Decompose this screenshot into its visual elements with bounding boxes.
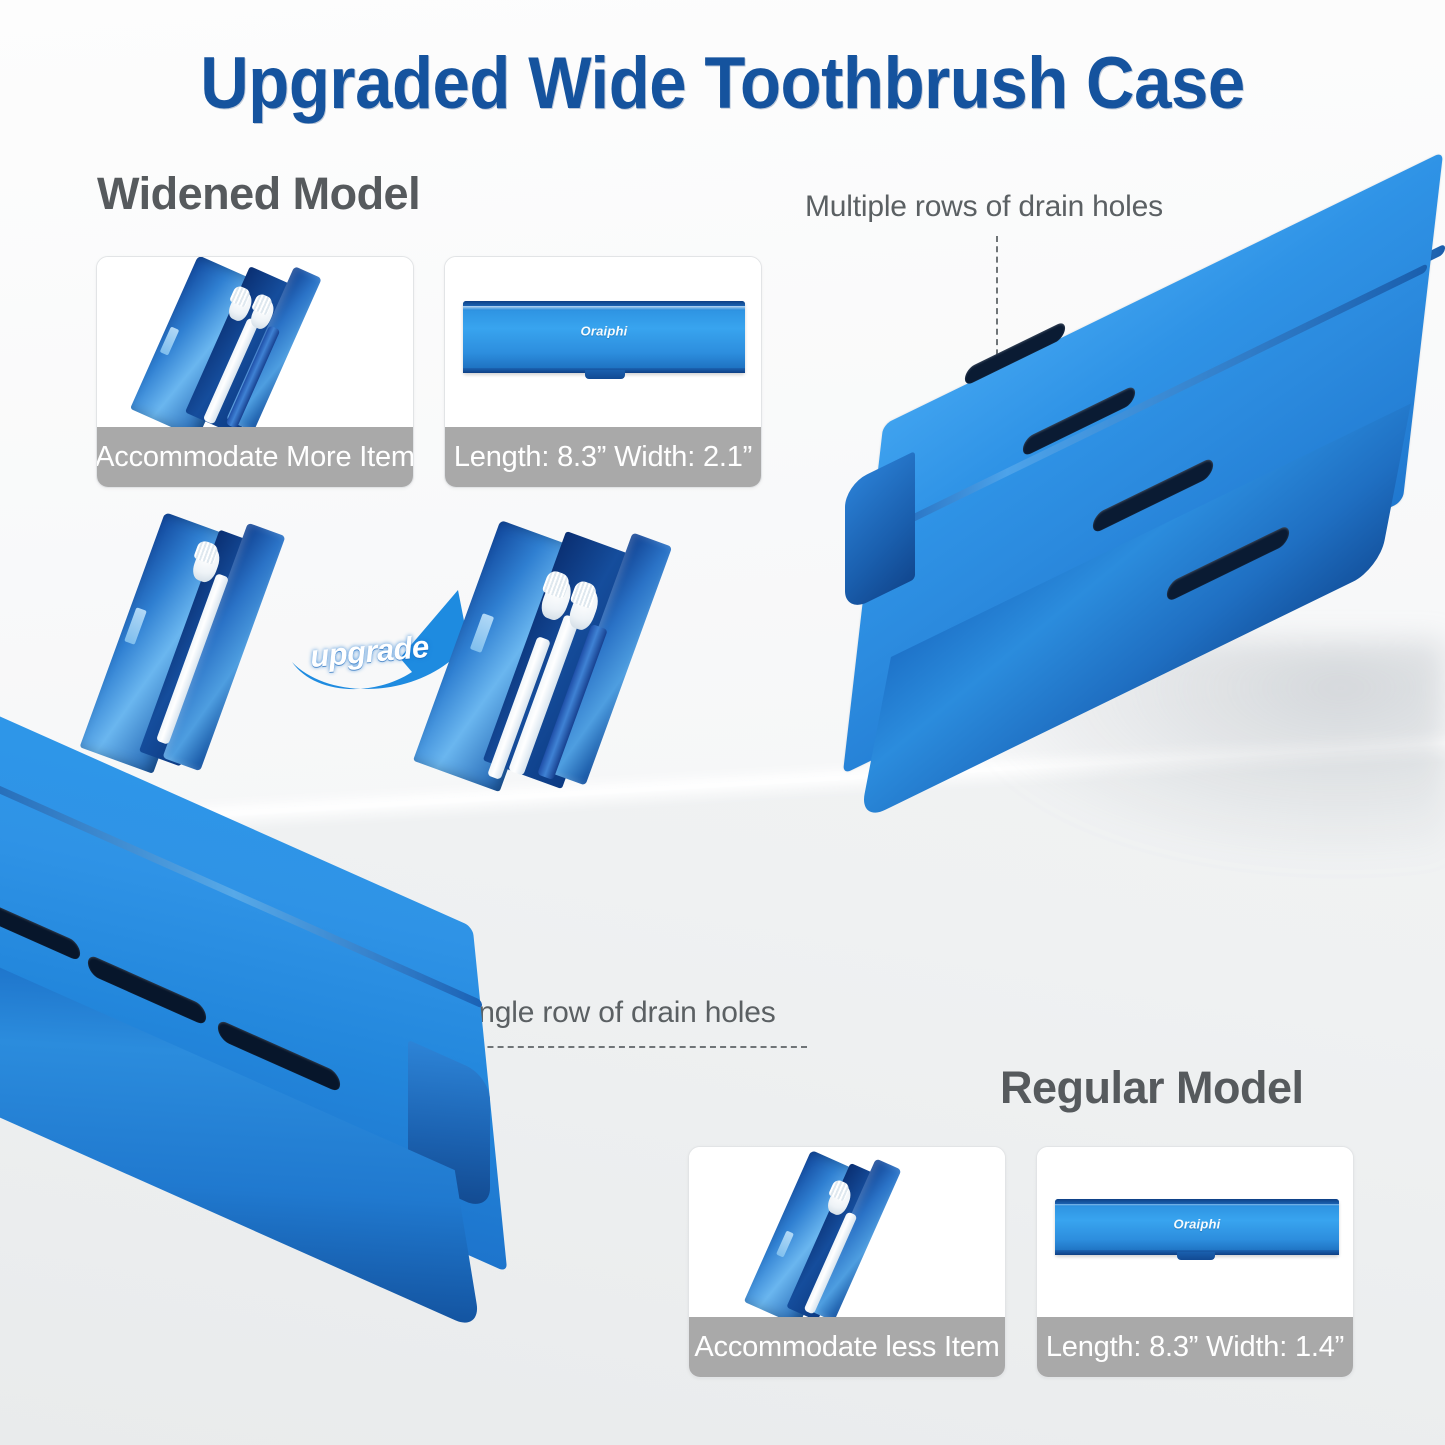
card-photo-wide-flat-case: Oraiphi	[445, 257, 761, 429]
secondary-product-image	[0, 790, 570, 1410]
feature-card-accommodate-more: Accommodate More Item	[96, 256, 414, 488]
page-title: Upgraded Wide Toothbrush Case	[58, 42, 1387, 125]
card-caption: Length: 8.3” Width: 1.4”	[1037, 1317, 1353, 1377]
feature-card-accommodate-less: Accommodate less Item	[688, 1146, 1006, 1378]
card-photo-regular-flat-case: Oraiphi	[1037, 1147, 1353, 1319]
upgrade-after-image	[448, 522, 698, 802]
hero-product-image	[845, 150, 1445, 790]
section-heading-regular: Regular Model	[1000, 1062, 1304, 1114]
flat-case-latch-notch	[1177, 1252, 1215, 1260]
feature-card-wide-dimensions: Oraiphi Length: 8.3” Width: 2.1”	[444, 256, 762, 488]
flat-case-body: Oraiphi	[463, 301, 745, 373]
feature-card-regular-dimensions: Oraiphi Length: 8.3” Width: 1.4”	[1036, 1146, 1354, 1378]
flat-case-latch-notch	[585, 370, 625, 379]
brand-logo: Oraiphi	[581, 324, 628, 339]
card-caption: Accommodate More Item	[97, 427, 413, 487]
section-heading-widened: Widened Model	[97, 168, 420, 220]
card-caption: Length: 8.3” Width: 2.1”	[445, 427, 761, 487]
card-photo-wide-open-case	[97, 257, 413, 429]
card-photo-regular-open-case	[689, 1147, 1005, 1319]
flat-case-top-seam	[463, 301, 745, 306]
card-caption: Accommodate less Item	[689, 1317, 1005, 1377]
flat-case-top-seam	[1055, 1199, 1339, 1204]
brand-logo: Oraiphi	[1174, 1216, 1221, 1231]
flat-case-body: Oraiphi	[1055, 1199, 1339, 1255]
